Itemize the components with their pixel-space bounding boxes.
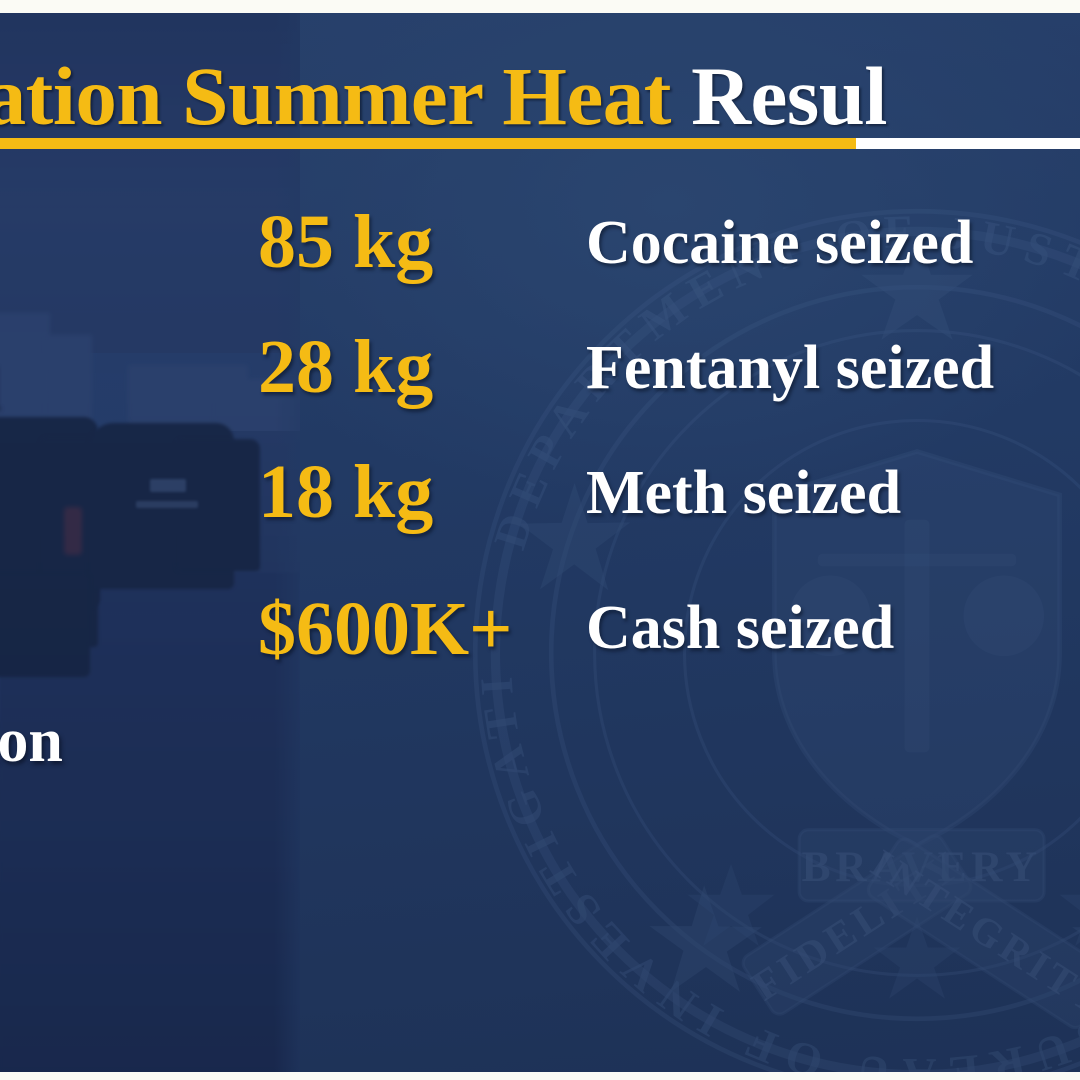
left-caption-line-2: version [0, 710, 63, 772]
results-stats-list: 85 kg Cocaine seized 28 kg Fentanyl seiz… [0, 196, 1080, 701]
stat-value-cocaine: 85 kg [258, 204, 433, 280]
title-trailing: Resul [671, 50, 887, 142]
stat-label-cash: Cash seized [586, 597, 894, 659]
bottom-edge-strip [0, 1072, 1080, 1080]
stat-label-cocaine: Cocaine seized [586, 212, 973, 274]
stat-row-cocaine: 85 kg Cocaine seized [0, 196, 1080, 321]
results-slide: DEPARTMENT OF JUSTICE FEDERAL BUREAU OF … [0, 0, 1080, 1080]
title-underline [0, 138, 1080, 149]
title-underline-white [856, 138, 1080, 149]
svg-text:FIDELITY: FIDELITY [745, 841, 971, 1010]
stat-row-meth: 18 kg Meth seized [0, 446, 1080, 571]
svg-text:INTEGRITY: INTEGRITY [863, 841, 1080, 1027]
stat-label-fentanyl: Fentanyl seized [586, 337, 994, 399]
stat-label-meth: Meth seized [586, 462, 901, 524]
stat-row-cash: $600K+ Cash seized [0, 571, 1080, 701]
title-underline-gold [0, 138, 856, 149]
top-edge-strip [0, 0, 1080, 13]
stat-row-fentanyl: 28 kg Fentanyl seized [0, 321, 1080, 446]
stat-value-meth: 18 kg [258, 454, 433, 530]
stat-value-fentanyl: 28 kg [258, 329, 433, 405]
title-row: eration Summer Heat Resul [0, 55, 887, 138]
title-highlight: eration Summer Heat [0, 50, 671, 142]
svg-text:BRAVERY: BRAVERY [802, 843, 1042, 891]
stat-value-cash: $600K+ [258, 591, 512, 667]
